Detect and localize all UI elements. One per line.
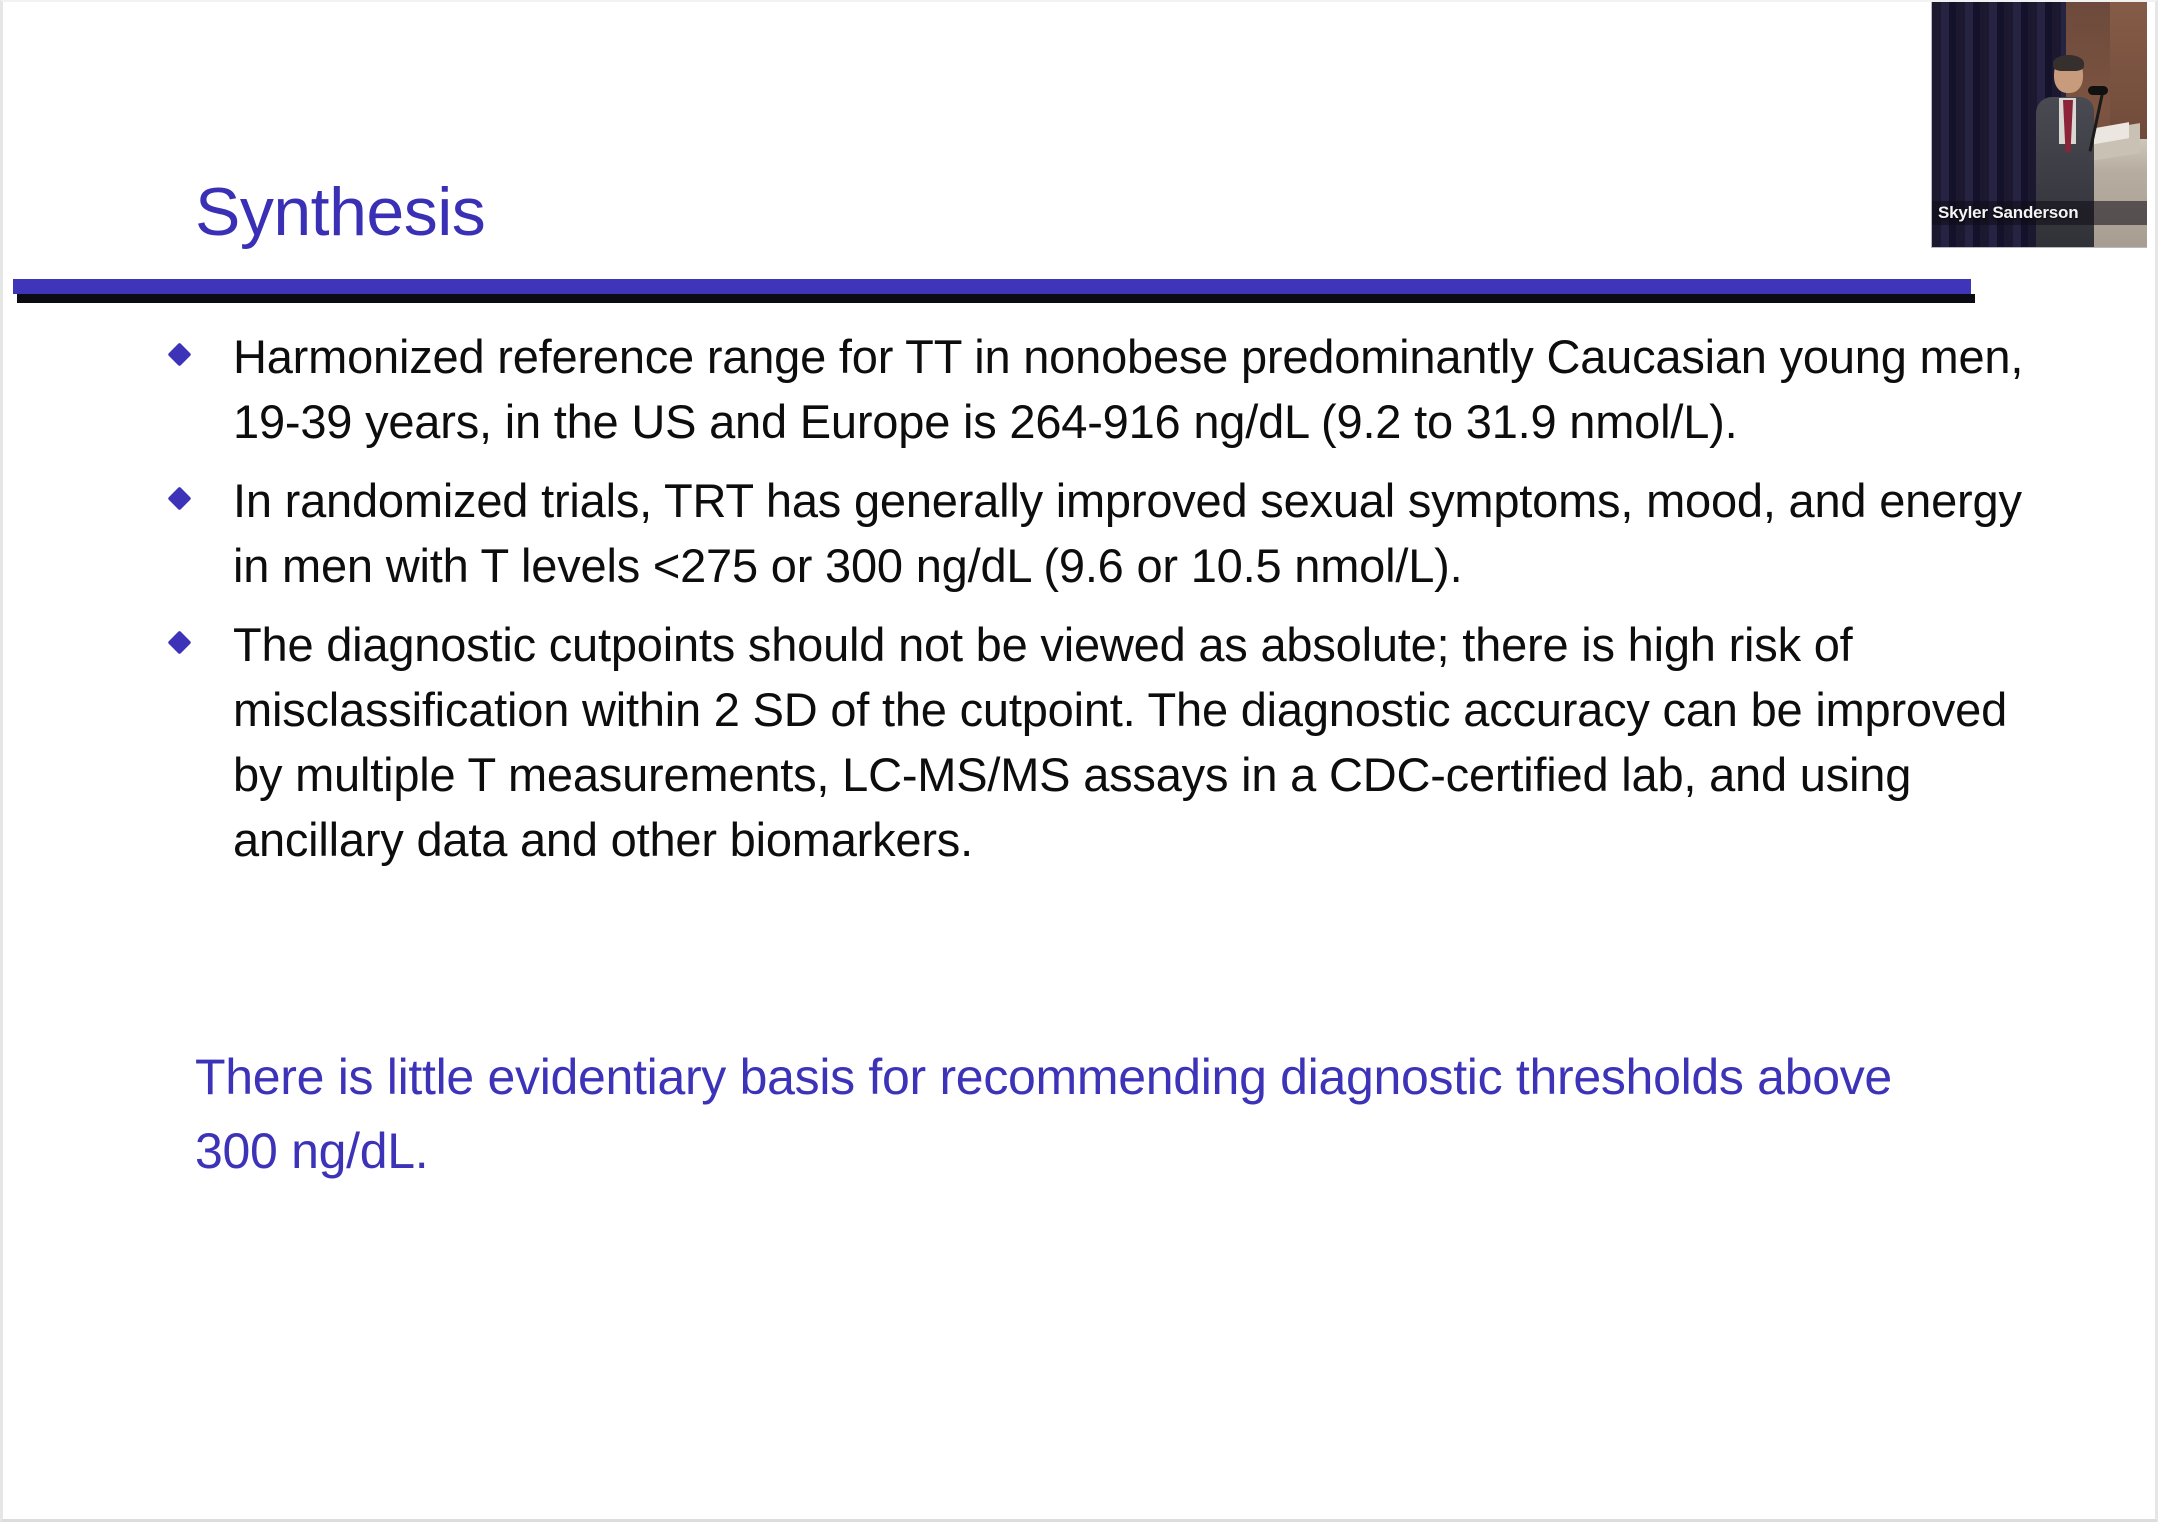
presenter-video-thumbnail[interactable]: Skyler Sanderson — [1931, 2, 2147, 248]
page-title: Synthesis — [195, 170, 485, 254]
list-item: Harmonized reference range for TT in non… — [171, 324, 2061, 454]
title-underline-shadow — [17, 294, 1975, 303]
bullet-text-1: Harmonized reference range for TT in non… — [233, 324, 2033, 454]
bullet-text-2: In randomized trials, TRT has generally … — [233, 468, 2043, 598]
presenter-name-bar: Skyler Sanderson — [1932, 201, 2147, 225]
microphone-icon — [2088, 86, 2108, 95]
slide-canvas: Synthesis Harmonized reference range for… — [0, 0, 2158, 1522]
title-underline-rule — [13, 279, 1971, 294]
list-item: In randomized trials, TRT has generally … — [171, 468, 2061, 598]
presenter-name-label: Skyler Sanderson — [1938, 203, 2078, 222]
diamond-bullet-icon — [171, 612, 233, 656]
bullet-list: Harmonized reference range for TT in non… — [171, 324, 2061, 886]
bullet-text-3: The diagnostic cutpoints should not be v… — [233, 612, 2061, 872]
diamond-bullet-icon — [171, 468, 233, 512]
conclusion-text: There is little evidentiary basis for re… — [195, 1040, 1895, 1188]
speaker-hair — [2053, 55, 2084, 71]
diamond-bullet-icon — [171, 324, 233, 368]
list-item: The diagnostic cutpoints should not be v… — [171, 612, 2061, 872]
